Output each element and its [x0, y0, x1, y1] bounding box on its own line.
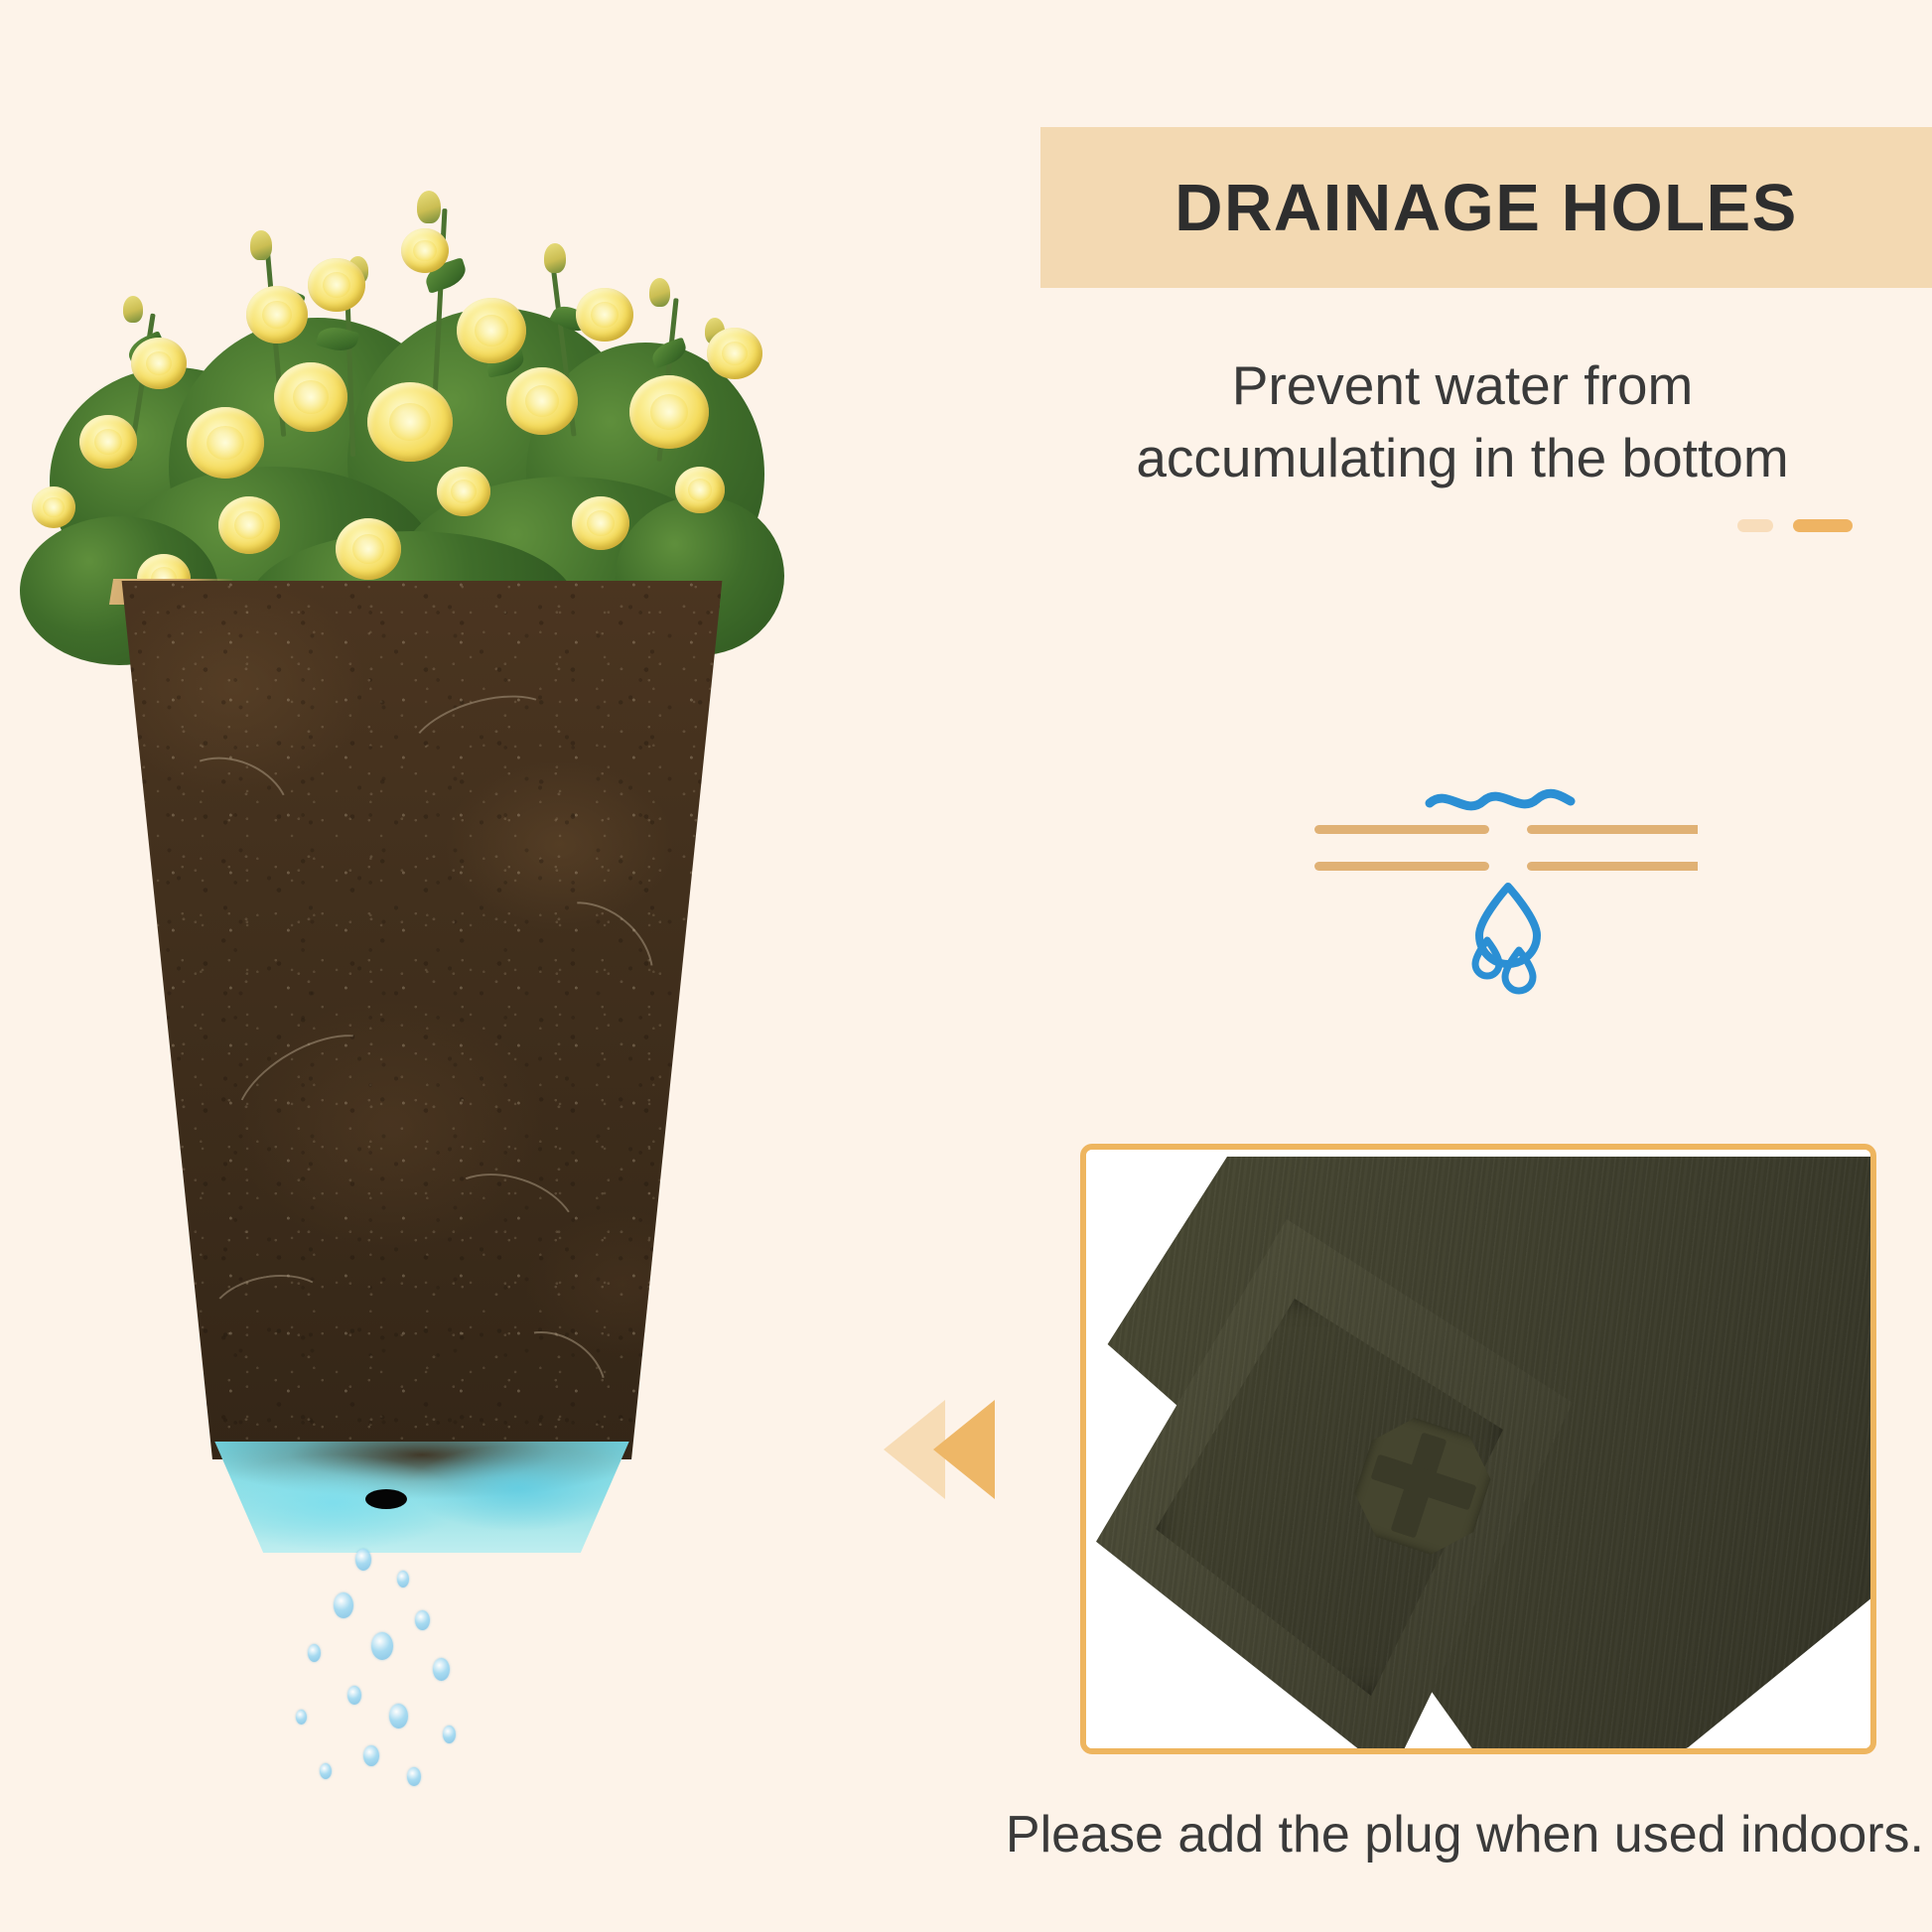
soil-texture	[109, 581, 735, 1459]
drainage-hole	[365, 1489, 407, 1509]
pagination-dash-2[interactable]	[1793, 519, 1853, 532]
arrow-triangle-front	[933, 1400, 995, 1499]
infographic-canvas: DRAINAGE HOLES Prevent water from accumu…	[0, 0, 1932, 1932]
rose-bush-graphic	[20, 169, 774, 645]
bottom-caption: Please add the plug when used indoors.	[596, 1805, 1932, 1864]
page-title: DRAINAGE HOLES	[1174, 170, 1798, 246]
subtitle-line-1: Prevent water from	[993, 349, 1932, 422]
pagination-indicator[interactable]	[1737, 519, 1853, 532]
pagination-dash-1[interactable]	[1737, 519, 1773, 532]
subtitle-line-2: accumulating in the bottom	[993, 422, 1932, 494]
wet-soil-layer	[202, 1442, 642, 1553]
water-draining-through-holes-icon	[1281, 769, 1698, 1018]
double-left-arrow-icon	[884, 1395, 1013, 1514]
drainage-plug-photo	[1086, 1150, 1870, 1748]
drainage-plug-closeup-frame	[1080, 1144, 1876, 1754]
falling-water-droplets	[248, 1541, 546, 1789]
subtitle: Prevent water from accumulating in the b…	[993, 349, 1932, 493]
planter-cutaway-illustration	[0, 0, 894, 1932]
title-banner: DRAINAGE HOLES	[1040, 127, 1932, 288]
soil-cutaway	[109, 581, 735, 1459]
